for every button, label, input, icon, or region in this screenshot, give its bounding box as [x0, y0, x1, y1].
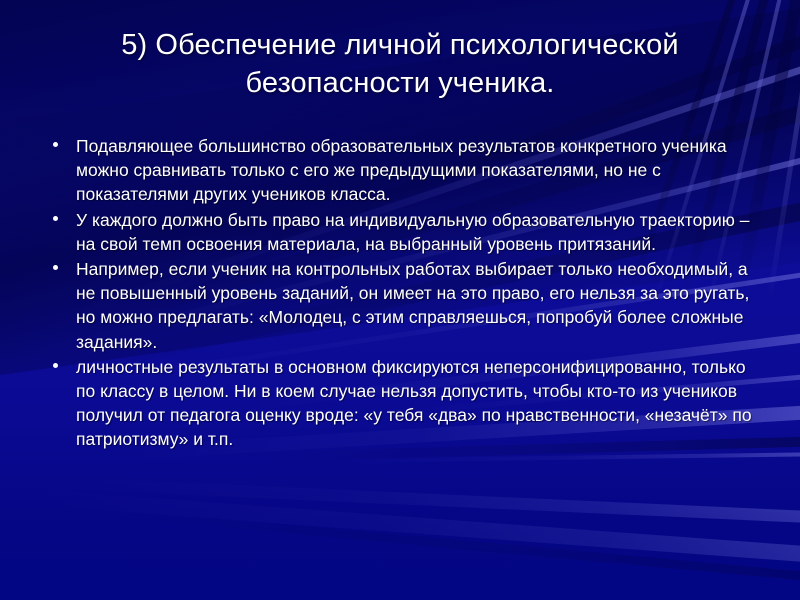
bullet-text-2: У каждого должно быть право на индивидуа…	[76, 210, 750, 254]
slide-title: 5) Обеспечение личной психологической бе…	[40, 26, 760, 102]
bullet-item-3: Например, если ученик на контрольных раб…	[48, 257, 766, 354]
round-bullet-icon	[53, 142, 58, 147]
bullet-item-1: Подавляющее большинство образовательных …	[48, 134, 766, 207]
slide-content: 5) Обеспечение личной психологической бе…	[0, 0, 800, 600]
presentation-slide: 5) Обеспечение личной психологической бе…	[0, 0, 800, 600]
round-bullet-icon	[53, 265, 58, 270]
slide-bullet-list: Подавляющее большинство образовательных …	[48, 134, 766, 453]
bullet-item-4: личностные результаты в основном фиксиру…	[48, 355, 766, 452]
bullet-item-2: У каждого должно быть право на индивидуа…	[48, 208, 766, 256]
bullet-text-1: Подавляющее большинство образовательных …	[76, 136, 727, 204]
bullet-text-4: личностные результаты в основном фиксиру…	[76, 357, 752, 450]
round-bullet-icon	[53, 363, 58, 368]
round-bullet-icon	[53, 216, 58, 221]
bullet-text-3: Например, если ученик на контрольных раб…	[76, 259, 749, 352]
